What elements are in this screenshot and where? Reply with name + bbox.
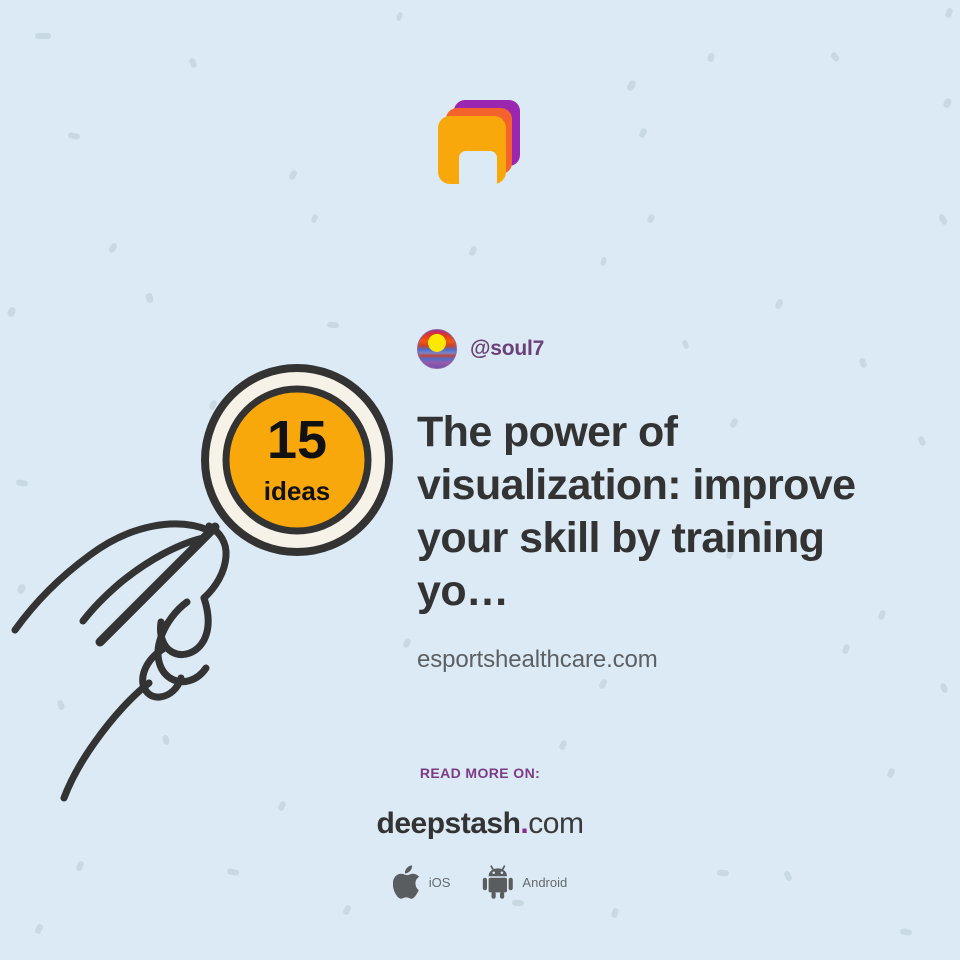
hand-illustration xyxy=(15,524,226,798)
read-more-label: READ MORE ON: xyxy=(0,765,960,781)
footer: READ MORE ON: deepstash.com iOS xyxy=(0,765,960,899)
confetti-dash xyxy=(774,298,784,310)
confetti-dash xyxy=(512,899,524,906)
confetti-dash xyxy=(188,57,197,69)
deepstash-share-card: 15 ideas @soul7 The power of visualizati… xyxy=(0,0,960,960)
store-label-android: Android xyxy=(522,875,567,890)
confetti-dash xyxy=(34,923,44,935)
store-badge-ios[interactable]: iOS xyxy=(393,865,451,899)
confetti-dash xyxy=(342,904,352,916)
android-icon xyxy=(482,865,514,899)
brand-tld: com xyxy=(528,807,583,840)
source-domain[interactable]: esportshealthcare.com xyxy=(417,646,917,674)
store-label-ios: iOS xyxy=(429,875,451,890)
confetti-dash xyxy=(288,169,298,181)
confetti-dash xyxy=(942,97,953,109)
confetti-dash xyxy=(646,213,656,224)
confetti-dash xyxy=(6,306,17,318)
logo-center-cutout xyxy=(459,151,497,189)
confetti-dash xyxy=(938,213,949,226)
confetti-dash xyxy=(145,292,155,304)
confetti-dash xyxy=(310,213,318,223)
confetti-dash xyxy=(610,907,619,918)
confetti-dash xyxy=(598,678,608,690)
author-handle[interactable]: @soul7 xyxy=(470,337,544,361)
confetti-dash xyxy=(917,435,927,447)
confetti-dash xyxy=(600,257,607,267)
confetti-dash xyxy=(900,928,913,936)
confetti-dash xyxy=(468,245,478,257)
confetti-dash xyxy=(396,11,404,21)
ideas-count-label: ideas xyxy=(264,476,331,506)
avatar xyxy=(417,329,457,369)
brand-wordmark[interactable]: deepstash.com xyxy=(0,807,960,841)
confetti-dash xyxy=(558,739,568,751)
article-content: @soul7 The power of visualization: impro… xyxy=(417,326,917,674)
confetti-dash xyxy=(68,132,81,140)
confetti-dash xyxy=(35,33,51,39)
confetti-dash xyxy=(707,52,715,62)
brand-name: deepstash xyxy=(377,807,521,840)
store-badge-android[interactable]: Android xyxy=(482,865,567,899)
confetti-dash xyxy=(108,242,118,254)
author-row[interactable]: @soul7 xyxy=(417,326,917,372)
logo-layer-front xyxy=(438,116,506,184)
ideas-count-number: 15 xyxy=(267,410,327,470)
confetti-dash xyxy=(830,51,841,63)
deepstash-cube-logo xyxy=(432,96,528,196)
apple-icon xyxy=(393,865,421,899)
confetti-dash xyxy=(944,7,953,18)
confetti-dash xyxy=(327,321,339,328)
confetti-dash xyxy=(939,682,949,694)
page-title: The power of visualization: improve your… xyxy=(417,406,917,618)
confetti-dash xyxy=(626,79,638,92)
store-badges: iOS xyxy=(0,865,960,899)
confetti-dash xyxy=(638,127,648,139)
